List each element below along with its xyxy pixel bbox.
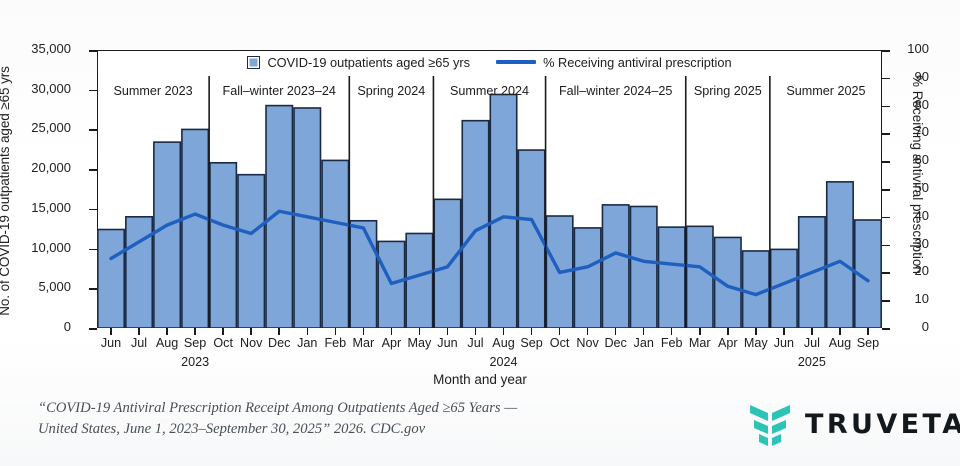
x-axis-tick-mark [503, 328, 505, 335]
y-axis-left-tick-label: 20,000 [1, 160, 71, 175]
x-axis-tick-mark [194, 328, 196, 335]
season-band-label: Summer 2025 [770, 84, 882, 98]
x-axis-tick-mark [447, 328, 449, 335]
x-axis-tick-mark [278, 328, 280, 335]
y-axis-right-tick-label: 10 [893, 291, 929, 306]
truveta-logo: TRUVETA [748, 400, 960, 448]
bar [406, 233, 432, 328]
bar [630, 206, 656, 328]
x-axis-tick-mark [587, 328, 589, 335]
x-axis-tick-mark [419, 328, 421, 335]
bar [434, 199, 460, 328]
y-axis-right-tick-label: 90 [893, 69, 929, 84]
x-axis-tick-mark [699, 328, 701, 335]
bar [574, 228, 600, 328]
x-axis-tick-mark [755, 328, 757, 335]
y-axis-left-tick-mark [89, 209, 97, 211]
legend-item-line: % Receiving antiviral prescription [496, 55, 731, 70]
y-axis-right-tick-mark [882, 217, 890, 219]
season-band-label: Fall–winter 2023–24 [209, 84, 349, 98]
x-axis-tick-mark [727, 328, 729, 335]
y-axis-right-tick-mark [882, 106, 890, 108]
x-axis-tick-mark [222, 328, 224, 335]
x-axis-tick-mark [671, 328, 673, 335]
bar [350, 221, 376, 328]
bar [182, 129, 208, 328]
legend-bar-label: COVID-19 outpatients aged ≥65 yrs [267, 55, 470, 70]
bar [322, 160, 348, 328]
bar [238, 175, 264, 328]
x-axis-tick-mark [783, 328, 785, 335]
y-axis-right-title: % Receiving antiviral prescription [899, 75, 925, 325]
x-axis-tick-mark [110, 328, 112, 335]
bar [126, 217, 152, 328]
bar [715, 237, 741, 328]
bar [210, 163, 236, 328]
y-axis-right-tick-label: 0 [893, 319, 929, 334]
y-axis-right-tick-mark [882, 328, 890, 330]
y-axis-left-tick-label: 35,000 [1, 41, 71, 56]
legend-line-label: % Receiving antiviral prescription [543, 55, 731, 70]
y-axis-right-tick-mark [882, 189, 890, 191]
y-axis-left-tick-label: 10,000 [1, 240, 71, 255]
y-axis-left-tick-mark [89, 129, 97, 131]
y-axis-right-tick-mark [882, 245, 890, 247]
y-axis-right-tick-label: 60 [893, 152, 929, 167]
x-axis-tick-mark [615, 328, 617, 335]
y-axis-left-tick-mark [89, 328, 97, 330]
caption-line-2: United States, June 1, 2023–September 30… [38, 419, 678, 440]
legend-bar-swatch-icon [247, 56, 260, 69]
figure-page: No. of COVID-19 outpatients aged ≥65 yrs… [0, 0, 960, 466]
legend-item-bars: COVID-19 outpatients aged ≥65 yrs [247, 55, 470, 70]
y-axis-right-tick-label: 100 [893, 41, 929, 56]
x-axis-tick-mark [335, 328, 337, 335]
y-axis-right-tick-mark [882, 272, 890, 274]
x-axis-tick-mark [867, 328, 869, 335]
season-band-label: Fall–winter 2024–25 [546, 84, 686, 98]
x-axis-tick-mark [363, 328, 365, 335]
season-band-label: Spring 2025 [686, 84, 770, 98]
bar [602, 205, 628, 328]
x-axis-year-label: 2023 [165, 355, 225, 369]
y-axis-right-tick-mark [882, 78, 890, 80]
y-axis-left-tick-label: 25,000 [1, 120, 71, 135]
truveta-wordmark: TRUVETA [805, 409, 960, 440]
bar [98, 230, 124, 328]
x-axis-year-label: 2024 [474, 355, 534, 369]
x-axis-tick-mark [811, 328, 813, 335]
y-axis-right-tick-mark [882, 133, 890, 135]
chart-figure: No. of COVID-19 outpatients aged ≥65 yrs… [0, 0, 960, 386]
y-axis-right-tick-label: 80 [893, 97, 929, 112]
x-axis-tick-mark [138, 328, 140, 335]
bar [687, 226, 713, 328]
y-axis-left-tick-label: 15,000 [1, 200, 71, 215]
chart-legend: COVID-19 outpatients aged ≥65 yrs % Rece… [97, 50, 882, 74]
x-axis-tick-mark [307, 328, 309, 335]
season-band-label: Summer 2023 [97, 84, 209, 98]
y-axis-right-tick-label: 40 [893, 208, 929, 223]
x-axis-tick-mark [391, 328, 393, 335]
y-axis-right-tick-label: 70 [893, 124, 929, 139]
y-axis-left-tick-mark [89, 90, 97, 92]
x-axis-tick-mark [643, 328, 645, 335]
legend-line-swatch-icon [496, 60, 536, 64]
y-axis-right-tick-label: 20 [893, 263, 929, 278]
x-axis-tick-label: Sep [851, 336, 885, 350]
x-axis-tick-mark [531, 328, 533, 335]
x-axis-title: Month and year [0, 372, 960, 387]
y-axis-right-tick-mark [882, 161, 890, 163]
x-axis-tick-mark [559, 328, 561, 335]
truveta-sprout-mark-icon [748, 400, 792, 448]
y-axis-right-tick-label: 50 [893, 180, 929, 195]
y-axis-left-tick-mark [89, 50, 97, 52]
bar [490, 94, 516, 328]
y-axis-left-tick-label: 0 [1, 319, 71, 334]
y-axis-right-tick-mark [882, 300, 890, 302]
x-axis-tick-mark [839, 328, 841, 335]
y-axis-left-tick-label: 5,000 [1, 279, 71, 294]
x-axis-tick-mark [250, 328, 252, 335]
x-axis-tick-mark [475, 328, 477, 335]
bar [827, 182, 853, 328]
y-axis-left-tick-mark [89, 249, 97, 251]
y-axis-right-tick-mark [882, 50, 890, 52]
y-axis-left-tick-mark [89, 169, 97, 171]
y-axis-left-tick-label: 30,000 [1, 81, 71, 96]
season-band-label: Spring 2024 [349, 84, 433, 98]
figure-caption: “COVID-19 Antiviral Prescription Receipt… [38, 398, 678, 439]
bar [659, 227, 685, 328]
bar [154, 142, 180, 328]
y-axis-right-tick-label: 30 [893, 236, 929, 251]
x-axis-tick-mark [166, 328, 168, 335]
season-band-label: Summer 2024 [433, 84, 545, 98]
y-axis-left-tick-mark [89, 288, 97, 290]
x-axis-year-label: 2025 [782, 355, 842, 369]
caption-line-1: “COVID-19 Antiviral Prescription Receipt… [38, 398, 678, 419]
